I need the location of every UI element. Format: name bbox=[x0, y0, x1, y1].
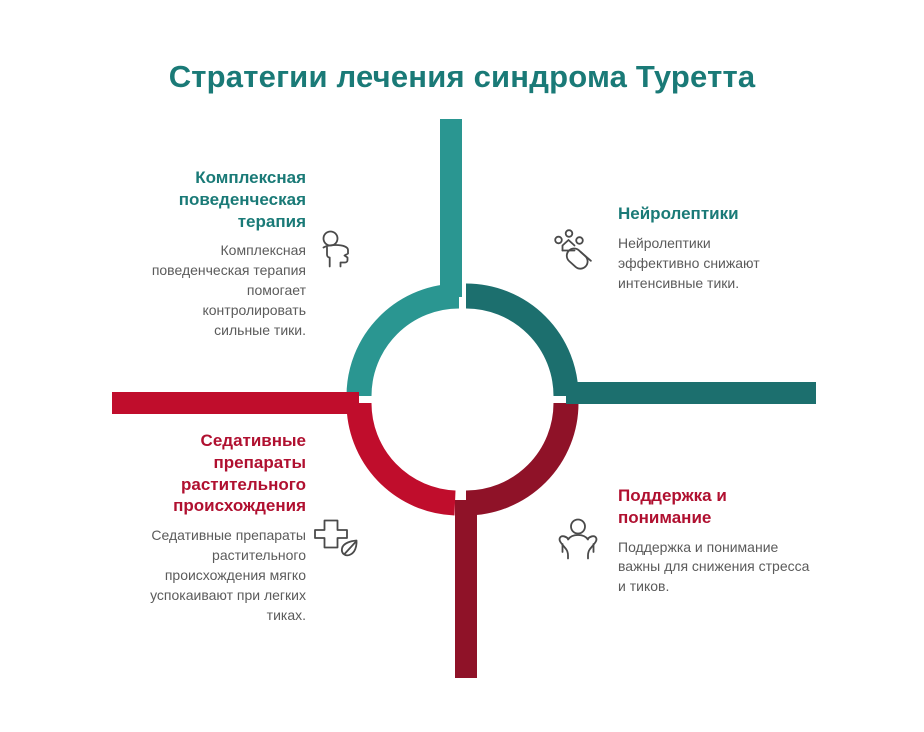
person-raised-hands-icon bbox=[555, 517, 601, 563]
connector-bottom-vertical bbox=[455, 500, 477, 678]
pill-capsule-icon bbox=[552, 227, 598, 271]
arc-top-right bbox=[466, 296, 566, 396]
section-body: Поддержка и понимание важны для снижения… bbox=[618, 538, 818, 598]
connector-left-horizontal bbox=[112, 392, 359, 414]
connector-right-horizontal bbox=[566, 382, 816, 404]
section-heading: Комплексная поведенческая терапия bbox=[150, 167, 306, 232]
central-ring-diagram bbox=[0, 0, 924, 732]
section-heading: Седативные препараты растительного проис… bbox=[140, 430, 306, 517]
section-body: Комплексная поведенческая терапия помога… bbox=[150, 241, 306, 340]
arc-bottom-left bbox=[359, 403, 455, 503]
section-heading: Поддержка и понимание bbox=[618, 485, 818, 529]
section-heading: Нейролептики bbox=[618, 203, 793, 225]
section-support-understanding: Поддержка и понимание Поддержка и понима… bbox=[618, 485, 818, 597]
section-body: Нейролептики эффективно снижают интенсив… bbox=[618, 234, 793, 294]
arc-top-left bbox=[359, 296, 459, 396]
head-thinking-icon bbox=[313, 227, 357, 271]
arc-bottom-right bbox=[466, 403, 566, 503]
section-herbal-sedatives: Седативные препараты растительного проис… bbox=[140, 430, 306, 625]
section-behavioral-therapy: Комплексная поведенческая терапия Компле… bbox=[150, 167, 306, 341]
connector-top-vertical bbox=[440, 119, 462, 297]
section-body: Седативные препараты растительного проис… bbox=[140, 526, 306, 625]
section-neuroleptics: Нейролептики Нейролептики эффективно сни… bbox=[618, 203, 793, 293]
medical-cross-leaf-icon bbox=[311, 517, 363, 561]
